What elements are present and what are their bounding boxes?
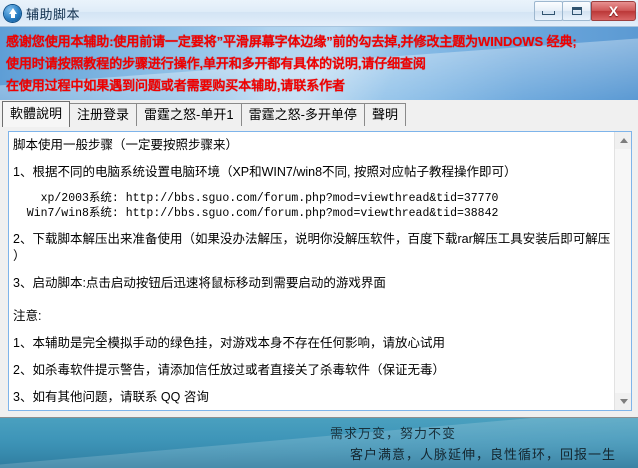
instructions-text: 脚本使用一般步骤（一定要按照步骤来） 1、根据不同的电脑系统设置电脑环境（XP和…: [9, 132, 613, 410]
instructions-line-2: xp/2003系统: http://bbs.sguo.com/forum.php…: [13, 191, 609, 206]
notice-line-1: 感谢您使用本辅助:使用前请一定要将”平滑屏幕字体边缘”前的勾去掉,并修改主题为W…: [6, 31, 638, 53]
spacer-2: [13, 221, 609, 231]
minimize-icon: [542, 11, 555, 15]
tab-statement[interactable]: 聲明: [364, 103, 406, 127]
instructions-line-1: 1、根据不同的电脑系统设置电脑环境（XP和WIN7/win8不同, 按照对应帖子…: [13, 164, 609, 181]
notice-banner: 感谢您使用本辅助:使用前请一定要将”平滑屏幕字体边缘”前的勾去掉,并修改主题为W…: [0, 27, 638, 100]
close-icon: X: [609, 4, 618, 18]
scroll-up-button[interactable]: [615, 132, 632, 149]
spacer-6: [13, 325, 609, 335]
vertical-scrollbar[interactable]: [614, 132, 631, 410]
footer-bar: 需求万变，努力不变 客户满意，人脉延伸，良性循环，回报一生: [0, 417, 638, 468]
spacer-1: [13, 181, 609, 191]
spacer-7: [13, 352, 609, 362]
footer-slogan-primary: 需求万变，努力不变: [0, 418, 616, 445]
tab-software-instructions[interactable]: 軟體說明: [2, 101, 70, 127]
window-title: 辅助脚本: [26, 4, 80, 23]
spacer-3: [13, 265, 609, 275]
maximize-button[interactable]: [562, 1, 591, 21]
notice-line-2: 使用时请按照教程的步骤进行操作,单开和多开都有具体的说明,请仔细查阅: [6, 53, 638, 75]
footer-slogan-secondary: 客户满意，人脉延伸，良性循环，回报一生: [0, 445, 616, 465]
instructions-line-6: 3、启动脚本:点击启动按钮后迅速将鼠标移动到需要启动的游戏界面: [13, 275, 609, 292]
window-controls: X: [535, 1, 636, 21]
instructions-line-4: 2、下载脚本解压出来准备使用（如果没办法解压，说明你没解压软件，百度下载rar解…: [13, 231, 609, 248]
scrollbar-track[interactable]: [615, 149, 632, 393]
content-panel: 脚本使用一般步骤（一定要按照步骤来） 1、根据不同的电脑系统设置电脑环境（XP和…: [0, 126, 638, 417]
scroll-down-button[interactable]: [615, 393, 632, 410]
spacer-4: [13, 292, 609, 302]
instructions-line-10: 3、如有其他问题，请联系 QQ 咨询: [13, 389, 609, 406]
arrow-up-icon: [620, 138, 628, 143]
instructions-note-heading: 注意:: [13, 308, 609, 325]
tab-register-login[interactable]: 注册登录: [69, 103, 137, 127]
app-logo-icon: [4, 5, 21, 22]
notice-line-3: 在使用过程中如果遇到问题或者需要购买本辅助,请联系作者: [6, 75, 638, 97]
tab-strip: 軟體說明 注册登录 雷霆之怒-单开1 雷霆之怒-多开单停 聲明: [0, 100, 638, 127]
spacer-8: [13, 379, 609, 389]
tab-single-open-1[interactable]: 雷霆之怒-单开1: [136, 103, 242, 127]
close-button[interactable]: X: [591, 1, 636, 21]
instructions-line-0: 脚本使用一般步骤（一定要按照步骤来）: [13, 137, 609, 154]
instructions-line-5: ）: [13, 248, 609, 265]
notice-banner-lines: 感谢您使用本辅助:使用前请一定要将”平滑屏幕字体边缘”前的勾去掉,并修改主题为W…: [0, 27, 638, 97]
instructions-textbox[interactable]: 脚本使用一般步骤（一定要按照步骤来） 1、根据不同的电脑系统设置电脑环境（XP和…: [8, 131, 632, 411]
instructions-line-3: Win7/win8系统: http://bbs.sguo.com/forum.p…: [13, 206, 609, 221]
instructions-line-9: 2、如杀毒软件提示警告，请添加信任放过或者直接关了杀毒软件（保证无毒）: [13, 362, 609, 379]
arrow-down-icon: [620, 399, 628, 404]
footer-slogans: 需求万变，努力不变 客户满意，人脉延伸，良性循环，回报一生: [0, 418, 638, 465]
spacer-0: [13, 154, 609, 164]
application-window: 辅助脚本 X 感谢您使用本辅助:使用前请一定要将”平滑屏幕字体边缘”前的勾去掉,…: [0, 0, 638, 468]
instructions-line-8: 1、本辅助是完全模拟手动的绿色挂，对游戏本身不存在任何影响，请放心试用: [13, 335, 609, 352]
maximize-icon: [572, 7, 582, 15]
tab-multi-open-single-stop[interactable]: 雷霆之怒-多开单停: [241, 103, 365, 127]
minimize-button[interactable]: [534, 1, 563, 21]
title-bar: 辅助脚本 X: [0, 0, 638, 27]
